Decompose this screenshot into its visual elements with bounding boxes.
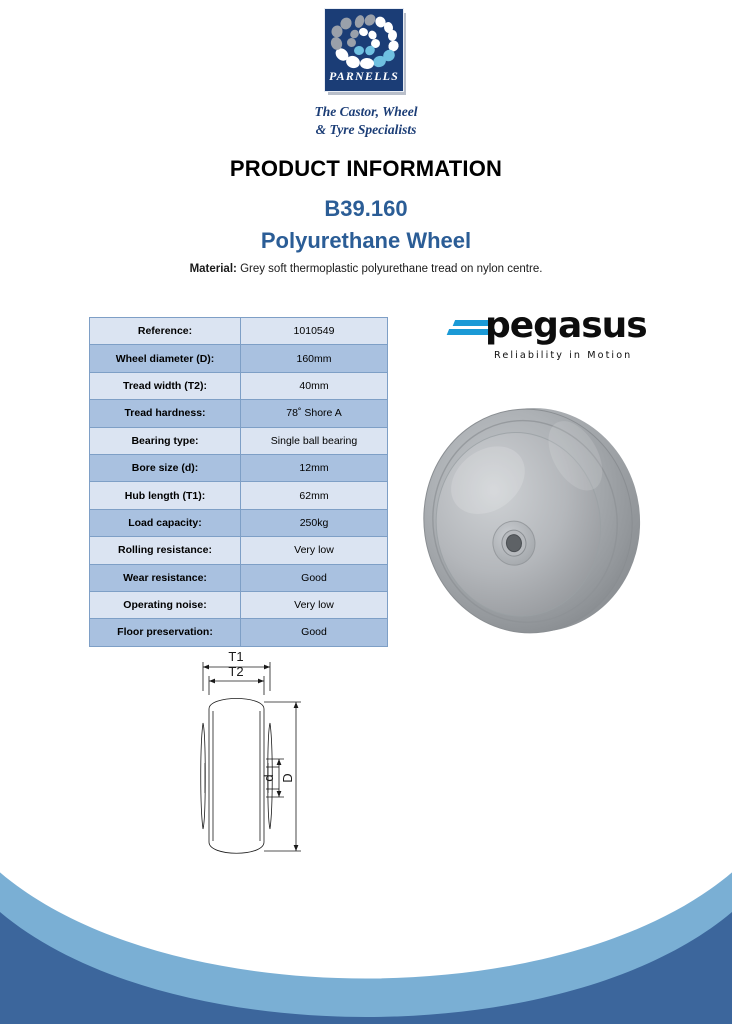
- table-row: Hub length (T1):62mm: [90, 482, 388, 509]
- table-row: Tread hardness:78˚ Shore A: [90, 400, 388, 427]
- logo-box: PARNELLS: [324, 8, 404, 92]
- label-t1: T1: [228, 649, 243, 664]
- material-text: Grey soft thermoplastic polyurethane tre…: [240, 263, 542, 275]
- spec-key: Bore size (d):: [90, 454, 241, 481]
- material-description: Material: Grey soft thermoplastic polyur…: [0, 263, 732, 275]
- spec-key: Rolling resistance:: [90, 537, 241, 564]
- page-title: PRODUCT INFORMATION: [0, 156, 732, 182]
- table-row: Load capacity:250kg: [90, 509, 388, 536]
- spec-key: Bearing type:: [90, 427, 241, 454]
- spec-value: 12mm: [241, 454, 388, 481]
- table-row: Reference:1010549: [90, 318, 388, 345]
- logo-dot: [360, 58, 374, 69]
- pegasus-logo: pegasus Reliability in Motion: [445, 310, 635, 368]
- spec-value: 40mm: [241, 372, 388, 399]
- parnells-logo-mark: PARNELLS: [324, 8, 408, 96]
- table-row: Wear resistance:Good: [90, 564, 388, 591]
- specification-table: Reference:1010549Wheel diameter (D):160m…: [89, 317, 388, 647]
- product-code: B39.160: [0, 196, 732, 222]
- table-row: Tread width (T2):40mm: [90, 372, 388, 399]
- spec-value: 62mm: [241, 482, 388, 509]
- bottom-decorative-wave: [0, 724, 732, 1024]
- logo-dot: [354, 46, 365, 56]
- spec-value: Good: [241, 564, 388, 591]
- product-photo: [412, 402, 644, 640]
- spec-value: Very low: [241, 537, 388, 564]
- spec-key: Load capacity:: [90, 509, 241, 536]
- product-name: Polyurethane Wheel: [0, 228, 732, 254]
- label-t2: T2: [228, 664, 243, 679]
- brand-tagline-line2: & Tyre Specialists: [315, 121, 418, 139]
- table-row: Bore size (d):12mm: [90, 454, 388, 481]
- spec-value: 250kg: [241, 509, 388, 536]
- spec-key: Floor preservation:: [90, 619, 241, 646]
- table-row: Bearing type:Single ball bearing: [90, 427, 388, 454]
- spec-value: Single ball bearing: [241, 427, 388, 454]
- material-label: Material:: [190, 263, 237, 275]
- pegasus-wordmark: pegasus: [485, 305, 647, 346]
- table-row: Operating noise:Very low: [90, 591, 388, 618]
- spec-key: Reference:: [90, 318, 241, 345]
- table-row: Floor preservation:Good: [90, 619, 388, 646]
- spec-value: Good: [241, 619, 388, 646]
- table-row: Rolling resistance:Very low: [90, 537, 388, 564]
- spec-key: Hub length (T1):: [90, 482, 241, 509]
- product-photo-svg: [412, 402, 644, 640]
- brand-tagline: The Castor, Wheel & Tyre Specialists: [315, 103, 418, 139]
- spec-key: Wheel diameter (D):: [90, 345, 241, 372]
- spec-key: Wear resistance:: [90, 564, 241, 591]
- table-row: Wheel diameter (D):160mm: [90, 345, 388, 372]
- spec-value: 1010549: [241, 318, 388, 345]
- spec-value: 160mm: [241, 345, 388, 372]
- spec-key: Tread hardness:: [90, 400, 241, 427]
- spec-key: Tread width (T2):: [90, 372, 241, 399]
- spec-key: Operating noise:: [90, 591, 241, 618]
- bottom-wave-svg: [0, 724, 732, 1024]
- parnells-logo: PARNELLS The Castor, Wheel & Tyre Specia…: [0, 8, 732, 139]
- specification-table-body: Reference:1010549Wheel diameter (D):160m…: [90, 318, 388, 647]
- spec-value: Very low: [241, 591, 388, 618]
- spec-value: 78˚ Shore A: [241, 400, 388, 427]
- brand-tagline-line1: The Castor, Wheel: [315, 103, 418, 121]
- pegasus-tagline: Reliability in Motion: [494, 350, 632, 361]
- logo-wordmark: PARNELLS: [325, 69, 403, 84]
